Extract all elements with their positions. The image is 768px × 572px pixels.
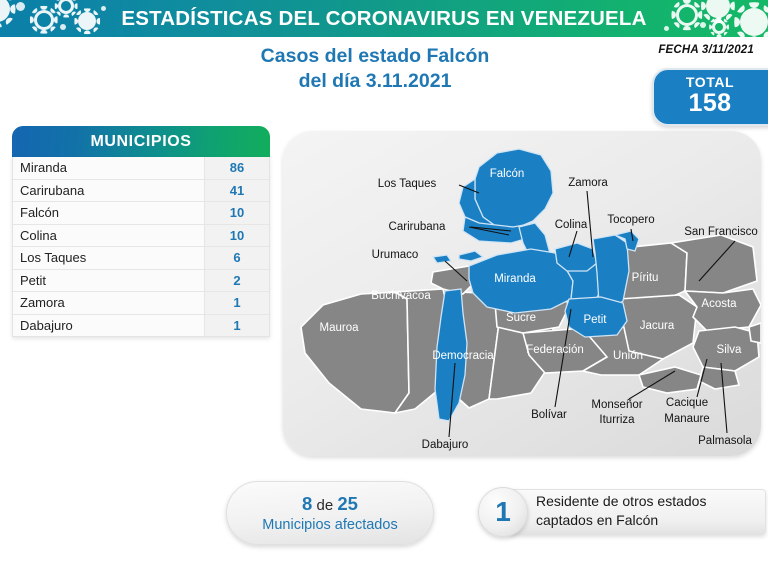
table-cell-name: Dabajuro [13, 318, 204, 333]
table-cell-value: 2 [204, 270, 269, 292]
resident-count-circle: 1 [478, 487, 528, 537]
map-callout-cacique: Cacique [666, 397, 708, 409]
table-cell-value: 1 [204, 292, 269, 314]
table-row[interactable]: Zamora 1 [13, 292, 269, 315]
table-cell-name: Petit [13, 273, 204, 288]
map-callout-manaure: Manaure [664, 413, 709, 425]
map-callout-dabajuro: Dabajuro [422, 439, 469, 451]
date-label: FECHA 3/11/2021 [658, 44, 754, 56]
municipios-table: MUNICIPIOS Miranda 86 Carirubana 41 Falc… [12, 126, 270, 337]
total-label: TOTAL [654, 74, 766, 90]
map-label-mauroa: Mauroa [320, 322, 360, 334]
map-label-falcon: Falcón [490, 168, 525, 180]
banner-title: ESTADÍSTICAS DEL CORONAVIRUS EN VENEZUEL… [0, 0, 768, 37]
affected-ratio: 8 de 25 [227, 493, 433, 516]
map-label-miranda: Miranda [494, 273, 536, 285]
resident-badge: 1 Residente de otros estados captados en… [478, 487, 764, 537]
page-title: Casos del estado Falcón del día 3.11.202… [170, 44, 580, 94]
page-title-line1: Casos del estado Falcón [261, 45, 490, 67]
table-body: Miranda 86 Carirubana 41 Falcón 10 Colin… [12, 157, 270, 337]
map-callout-san-francisco: San Francisco [684, 226, 758, 238]
table-cell-name: Carirubana [13, 183, 204, 198]
region-colina [555, 243, 597, 271]
table-row[interactable]: Los Taques 6 [13, 247, 269, 270]
table-cell-name: Zamora [13, 295, 204, 310]
table-cell-value: 10 [204, 202, 269, 224]
map-label-democracia: Democracia [432, 350, 494, 362]
table-row[interactable]: Colina 10 [13, 225, 269, 248]
table-cell-name: Colina [13, 228, 204, 243]
map-label-piritu: Píritu [632, 272, 659, 284]
table-cell-value: 41 [204, 180, 269, 202]
table-row[interactable]: Carirubana 41 [13, 180, 269, 203]
map-callout-monsenor: Monseñor [591, 399, 642, 411]
map-callout-tocopero: Tocopero [607, 214, 654, 226]
falcon-state-map[interactable]: .mu { stroke:#ffffff; stroke-width:1.6; … [283, 131, 761, 456]
total-badge: TOTAL 158 [652, 68, 768, 126]
map-label-silva: Silva [717, 344, 743, 356]
affected-count: 8 [302, 493, 312, 514]
affected-connector: de [312, 497, 337, 514]
map-callout-urumaco: Urumaco [372, 249, 419, 261]
header-banner: ESTADÍSTICAS DEL CORONAVIRUS EN VENEZUEL… [0, 0, 768, 37]
map-callout-colina: Colina [555, 219, 588, 231]
map-callout-zamora: Zamora [568, 177, 608, 189]
table-cell-value: 86 [204, 157, 269, 179]
table-row[interactable]: Falcón 10 [13, 202, 269, 225]
resident-line1: Residente de otros estados [536, 492, 762, 511]
table-row[interactable]: Miranda 86 [13, 157, 269, 180]
resident-description: Residente de otros estados captados en F… [536, 492, 762, 530]
affected-caption: Municipios afectados [227, 516, 433, 535]
table-row[interactable]: Dabajuro 1 [13, 315, 269, 337]
table-row[interactable]: Petit 2 [13, 270, 269, 293]
table-cell-value: 10 [204, 225, 269, 247]
map-callout-los-taques: Los Taques [378, 178, 437, 190]
table-cell-name: Los Taques [13, 250, 204, 265]
map-label-jacura: Jacura [640, 320, 675, 332]
table-cell-name: Miranda [13, 160, 204, 175]
resident-count: 1 [479, 488, 527, 536]
table-cell-name: Falcón [13, 205, 204, 220]
page-title-line2: del día 3.11.2021 [170, 69, 580, 94]
map-label-buchivacoa: Buchivacoa [371, 290, 431, 302]
table-cell-value: 6 [204, 247, 269, 269]
map-callout-palmasola: Palmasola [698, 435, 752, 447]
table-header: MUNICIPIOS [12, 126, 270, 157]
total-value: 158 [654, 90, 766, 117]
map-label-federacion: Federación [526, 344, 584, 356]
map-callout-bolivar: Bolívar [531, 409, 567, 421]
resident-line2: captados en Falcón [536, 511, 762, 530]
map-label-petit: Petit [583, 314, 607, 326]
map-callout-carirubana: Carirubana [389, 221, 446, 233]
region-falcon [475, 149, 553, 227]
map-label-union: Unión [613, 350, 643, 362]
map-label-sucre: Sucre [506, 312, 536, 324]
table-cell-value: 1 [204, 315, 269, 337]
map-label-acosta: Acosta [701, 298, 737, 310]
map-panel: .mu { stroke:#ffffff; stroke-width:1.6; … [283, 131, 761, 456]
map-callout-iturriza: Iturriza [599, 414, 635, 426]
affected-total: 25 [337, 493, 358, 514]
affected-municipalities-badge: 8 de 25 Municipios afectados [226, 481, 434, 545]
